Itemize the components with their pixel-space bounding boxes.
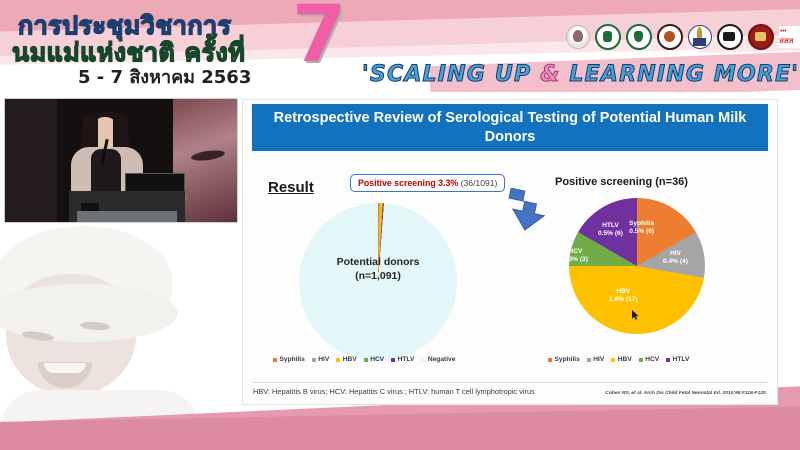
legend-label-hcv: HCV — [370, 356, 384, 363]
legend-item-negative: Negative — [421, 356, 455, 363]
thai-breastfeeding-centre-logo — [595, 24, 621, 50]
legend2-item-hcv: HCV — [639, 356, 659, 363]
slice-label-hbv: HBV 1.6% (17) — [609, 288, 638, 305]
legend2-label-htlv: HTLV — [673, 356, 690, 363]
conference-tagline: 'SCALING UP & LEARNING MORE' — [362, 62, 799, 87]
legend2-label-hcv: HCV — [645, 356, 659, 363]
legend2-item-htlv: HTLV — [666, 356, 689, 363]
citation-text: Cohen RS, et al. Arch Dis Child Fetal Ne… — [605, 391, 767, 396]
baby-teeth — [44, 363, 86, 373]
legend-label-hbv: HBV — [343, 356, 357, 363]
legend2-item-hbv: HBV — [611, 356, 631, 363]
tagline-part1: 'SCALING UP — [362, 62, 540, 87]
slice-label-hcv: HCV 0.3% (3) — [563, 248, 588, 265]
legend2-item-hiv: HIV — [587, 356, 605, 363]
slice-label-htlv-name: HTLV — [598, 222, 623, 230]
abbreviation-note: HBV: Hepatitis B virus; HCV: Hepatitis C… — [253, 387, 535, 396]
callout-detail-text: (36/1091) — [461, 178, 498, 188]
slice-label-htlv-value: 0.5% (6) — [598, 230, 623, 238]
slice-label-hiv-name: HIV — [663, 250, 688, 258]
royal-crest-logo — [657, 24, 683, 50]
slice-label-htlv: HTLV 0.5% (6) — [598, 222, 623, 239]
royal-patron-logo — [566, 25, 590, 49]
legend-item-syphilis: Syphilis — [273, 356, 305, 363]
baby-watermark-image — [0, 222, 250, 430]
slice-label-syphilis-value: 0.5% (6) — [629, 228, 654, 236]
sponsor-logo-strip: ♦♦♦ สสส — [566, 24, 800, 50]
national-health-logo — [717, 24, 743, 50]
result-heading: Result — [268, 179, 314, 196]
legend-swatch-negative — [421, 358, 425, 362]
positive-screening-pie-title: Positive screening (n=36) — [555, 176, 765, 188]
royal-emblem-logo — [688, 25, 712, 49]
legend-swatch-hiv — [312, 358, 316, 362]
legend2-swatch-htlv — [666, 358, 670, 362]
legend-swatch-hcv — [364, 358, 368, 362]
legend-label-htlv: HTLV — [398, 356, 415, 363]
thaihealth-sss-logo: ♦♦♦ สสส — [779, 26, 800, 48]
slice-label-hbv-value: 1.6% (17) — [609, 296, 638, 304]
potential-donors-subtitle: (n=1,091) — [299, 269, 457, 283]
callout-highlight-text: Positive screening 3.3% — [358, 178, 458, 188]
mouse-cursor-icon — [632, 310, 639, 320]
legend-item-hcv: HCV — [364, 356, 384, 363]
legend-label-hiv: HIV — [318, 356, 329, 363]
slice-label-hiv-value: 0.4% (4) — [663, 258, 688, 266]
potential-donors-pie-label: Potential donors (n=1,091) — [299, 255, 457, 283]
legend2-swatch-hbv — [611, 358, 615, 362]
legend2-swatch-hcv — [639, 358, 643, 362]
potential-donors-title: Potential donors — [299, 255, 457, 269]
speaker-shirt — [91, 149, 121, 195]
podium-base — [77, 211, 177, 222]
blue-arrow-icon — [505, 188, 549, 232]
conference-header-banner: การประชุมวิชาการ นมแม่แห่งชาติ ครั้งที่ … — [0, 0, 800, 92]
legend-swatch-hbv — [336, 358, 340, 362]
legend2-label-hbv: HBV — [618, 356, 632, 363]
legend2-swatch-hiv — [587, 358, 591, 362]
legend2-label-syphilis: Syphilis — [555, 356, 580, 363]
legend2-swatch-syphilis — [548, 358, 552, 362]
legend-item-htlv: HTLV — [391, 356, 414, 363]
tagline-part2: LEARNING MORE' — [561, 62, 800, 87]
potential-donors-legend: Syphilis HIV HBV HCV HTLV Negative — [273, 356, 455, 363]
slide-footnote: HBV: Hepatitis B virus; HCV: Hepatitis C… — [253, 382, 767, 396]
positive-screening-callout: Positive screening 3.3% (36/1091) — [350, 174, 505, 192]
presentation-slide: Retrospective Review of Serological Test… — [242, 99, 778, 405]
slice-label-hiv: HIV 0.4% (4) — [663, 250, 688, 267]
legend-item-hbv: HBV — [336, 356, 356, 363]
slice-label-syphilis: Syphilis 0.5% (6) — [629, 220, 654, 237]
slide-title: Retrospective Review of Serological Test… — [252, 104, 768, 151]
slice-label-syphilis-name: Syphilis — [629, 220, 654, 228]
legend-label-negative: Negative — [428, 356, 456, 363]
slice-label-hcv-name: HCV — [563, 248, 588, 256]
legend-label-syphilis: Syphilis — [280, 356, 305, 363]
tagline-ampersand: & — [540, 62, 560, 87]
video-backdrop-left — [5, 99, 57, 222]
garuda-seal-logo — [748, 24, 774, 50]
legend-swatch-htlv — [391, 358, 395, 362]
health-ministry-logo — [626, 24, 652, 50]
legend-item-hiv: HIV — [312, 356, 330, 363]
slice-label-hcv-value: 0.3% (3) — [563, 256, 588, 264]
legend2-item-syphilis: Syphilis — [548, 356, 580, 363]
speaker-video-thumbnail[interactable] — [4, 98, 238, 223]
conference-date-thai: 5 - 7 สิงหาคม 2563 — [78, 62, 251, 91]
legend-swatch-syphilis — [273, 358, 277, 362]
conference-edition-number: 7 — [292, 0, 346, 74]
legend2-label-hiv: HIV — [593, 356, 604, 363]
slide-presentation-screen: การประชุมวิชาการ นมแม่แห่งชาติ ครั้งที่ … — [0, 0, 800, 450]
slice-label-hbv-name: HBV — [609, 288, 638, 296]
positive-screening-legend: Syphilis HIV HBV HCV HTLV — [548, 356, 689, 363]
